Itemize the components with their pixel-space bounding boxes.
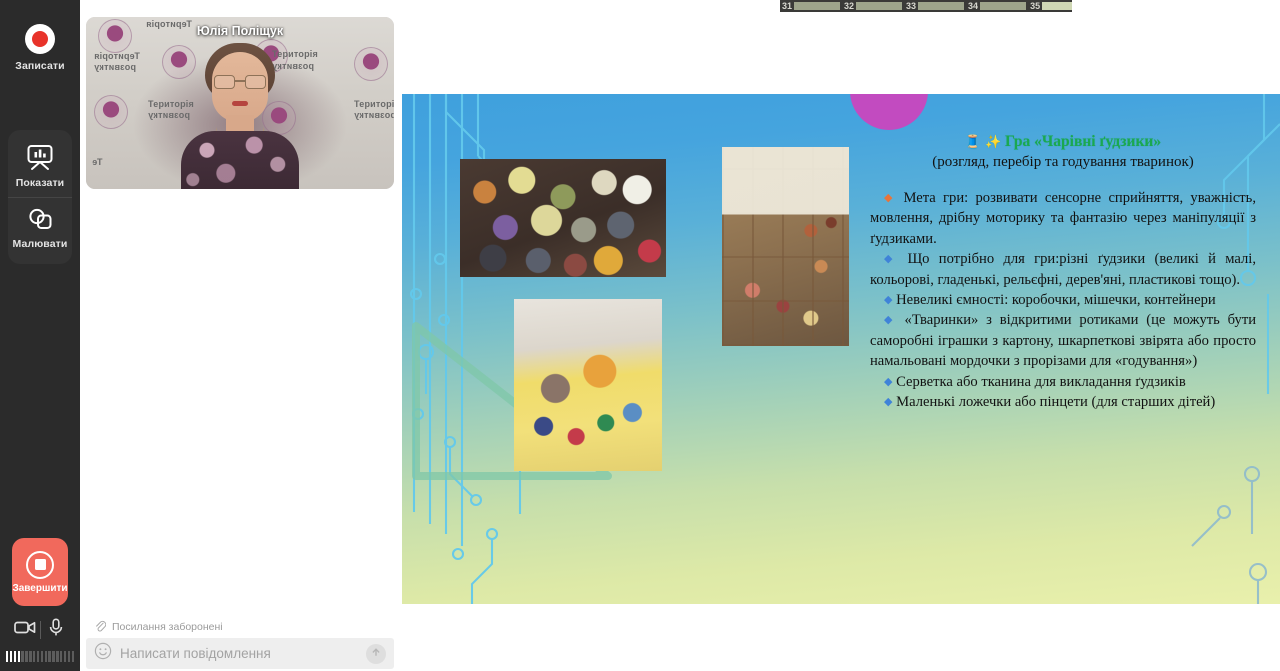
timeline-segment-active[interactable]: 35 — [1028, 0, 1072, 12]
timeline-bar — [980, 2, 1026, 10]
chat-notice-text: Посилання заборонені — [112, 621, 223, 633]
participant-figure — [181, 43, 299, 189]
end-call-label: Завершити — [12, 583, 67, 594]
slide-bullet: ◆ Що потрібно для гри:різні ґудзики (вел… — [870, 249, 1256, 290]
backdrop-text: розвитку — [354, 110, 394, 120]
slide-bullet-text: Серветка або тканина для викладання ґудз… — [896, 374, 1186, 390]
left-toolbar: Записати Показати — [0, 0, 80, 671]
bullet-marker-icon: ◆ — [884, 192, 896, 204]
present-board-icon — [25, 144, 55, 171]
timeline-number: 34 — [966, 0, 980, 12]
presentation-stage: 🧵 ✨ Гра «Чарівні ґудзики» (розгляд, пере… — [402, 14, 1280, 671]
end-call-button[interactable]: Завершити — [12, 538, 68, 606]
slide-bullet: ◆ Невеликі ємності: коробочки, мішечки, … — [870, 290, 1256, 310]
chat-input-placeholder[interactable]: Написати повідомлення — [120, 646, 366, 661]
bullet-marker-icon: ◆ — [884, 253, 898, 265]
slide-bullet-text: Маленькі ложечки або пінцети (для старши… — [896, 394, 1215, 410]
show-button[interactable]: Показати — [8, 140, 72, 195]
timeline-segment[interactable]: 34 — [966, 0, 1028, 12]
slide-bullet: ◆ Серветка або тканина для викладання ґу… — [870, 372, 1256, 392]
timeline-bar — [918, 2, 964, 10]
bullet-marker-icon: ◆ — [884, 294, 892, 306]
backdrop-text: Те — [92, 157, 102, 167]
mic-toggle-button[interactable] — [41, 618, 71, 642]
timeline-segment[interactable]: 31 — [780, 0, 842, 12]
timeline-bar — [794, 2, 840, 10]
timeline-segment[interactable]: 32 — [842, 0, 904, 12]
timeline-number: 32 — [842, 0, 856, 12]
backdrop-logo — [94, 95, 128, 129]
draw-button[interactable]: Малювати — [8, 197, 72, 256]
slide-text-block: 🧵 ✨ Гра «Чарівні ґудзики» (розгляд, пере… — [870, 132, 1256, 412]
slide-canvas[interactable]: 🧵 ✨ Гра «Чарівні ґудзики» (розгляд, пере… — [402, 94, 1280, 604]
slide-bullet: ◆ Мета гри: розвивати сенсорне сприйнятт… — [870, 188, 1256, 249]
sparkles-emoji-icon: ✨ — [985, 134, 1001, 149]
show-button-label: Показати — [16, 177, 65, 189]
slide-title: 🧵 ✨ Гра «Чарівні ґудзики» — [870, 132, 1256, 151]
slide-title-text: Гра «Чарівні ґудзики» — [1005, 133, 1161, 150]
bullet-marker-icon: ◆ — [884, 376, 892, 388]
backdrop-text: Територія — [354, 99, 394, 109]
slide-bullet: ◆ Маленькі ложечки або пінцети (для стар… — [870, 392, 1256, 412]
record-button-label: Записати — [15, 60, 64, 72]
record-dot-icon — [25, 24, 55, 54]
slide-bullet-text: «Тваринки» з відкритими ротиками (це мож… — [870, 312, 1256, 369]
smiley-icon[interactable] — [94, 642, 112, 665]
timeline-number: 35 — [1028, 0, 1042, 12]
record-button[interactable]: Записати — [8, 24, 72, 72]
backdrop-text: Територія — [94, 51, 140, 61]
slide-bullet: ◆ «Тваринки» з відкритими ротиками (це м… — [870, 310, 1256, 371]
participant-name-label: Юлія Поліщук — [86, 24, 394, 38]
camera-icon — [14, 620, 36, 640]
slide-bullet-text: Мета гри: розвивати сенсорне сприйняття,… — [870, 190, 1256, 247]
slide-subtitle: (розгляд, перебір та годування тваринок) — [870, 152, 1256, 172]
timeline-segment[interactable]: 33 — [904, 0, 966, 12]
photo-buttons-pile — [460, 159, 666, 277]
draw-button-label: Малювати — [13, 238, 68, 250]
bullet-marker-icon: ◆ — [884, 396, 892, 408]
chat-messages-area[interactable] — [86, 196, 394, 613]
slide-bullet-list: ◆ Мета гри: розвивати сенсорне сприйнятт… — [870, 188, 1256, 412]
audio-level-meter — [6, 651, 74, 662]
slide-bullet-text: Що потрібно для гри:різні ґудзики (велик… — [870, 251, 1256, 287]
send-message-button[interactable] — [366, 644, 386, 664]
timeline-bar — [856, 2, 902, 10]
av-controls — [6, 615, 74, 645]
photo-children-playing — [514, 299, 662, 471]
chat-notice: Посилання заборонені — [86, 618, 394, 636]
stop-square-icon — [26, 551, 54, 579]
timeline-number: 31 — [780, 0, 794, 12]
chat-input-row[interactable]: Написати повідомлення — [86, 638, 394, 669]
camera-toggle-button[interactable] — [10, 620, 40, 640]
slide-timeline-strip[interactable]: 31 32 33 34 35 — [780, 0, 1072, 12]
participant-chat-panel: Територія Територія розвитку Територія р… — [84, 0, 400, 671]
paperclip-icon — [95, 620, 106, 635]
arrow-up-icon — [370, 645, 382, 663]
backdrop-text: розвитку — [94, 62, 136, 72]
backdrop-logo — [354, 47, 388, 81]
bullet-marker-icon: ◆ — [884, 314, 897, 326]
tool-group: Показати Малювати — [8, 130, 72, 264]
draw-shapes-icon — [25, 207, 55, 232]
timeline-number: 33 — [904, 0, 918, 12]
video-conference-app: Записати Показати — [0, 0, 1280, 671]
thread-spool-emoji-icon: 🧵 — [965, 134, 981, 149]
photo-button-tray — [722, 147, 849, 346]
timeline-bar — [1042, 2, 1072, 10]
participant-video-tile[interactable]: Територія Територія розвитку Територія р… — [86, 17, 394, 189]
microphone-icon — [48, 618, 64, 642]
slide-bullet-text: Невеликі ємності: коробочки, мішечки, ко… — [896, 292, 1216, 308]
